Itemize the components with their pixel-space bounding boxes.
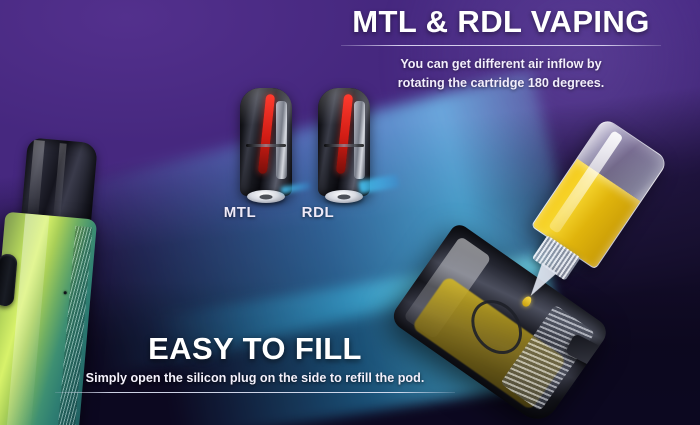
product-feature-banner: MTL & RDL VAPING You can get different a…: [0, 0, 700, 425]
pod-label-rdl: RDL: [302, 204, 335, 221]
header-subtitle-line-2: rotating the cartridge 180 degrees.: [336, 74, 666, 94]
pod-base-disc: [325, 190, 363, 203]
fill-section: EASY TO FILL Simply open the silicon plu…: [55, 332, 455, 393]
fill-underline: [55, 392, 455, 393]
header-block: MTL & RDL VAPING You can get different a…: [336, 6, 666, 94]
pod-coil: [336, 94, 353, 174]
fill-subtitle: Simply open the silicon plug on the side…: [55, 371, 455, 385]
title-underline: [341, 45, 661, 46]
header-subtitle: You can get different air inflow by rota…: [336, 55, 666, 94]
pod-cartridge-rdl: [318, 88, 370, 196]
pod-cartridge-mtl: [240, 88, 292, 196]
pod-base-disc: [247, 190, 285, 203]
eliquid-bottle: [531, 117, 669, 270]
pod-chrome-strip: [276, 101, 287, 179]
pod-seal-ring: [324, 144, 364, 147]
pod-seal-ring: [246, 144, 286, 147]
pod-chrome-strip: [354, 101, 365, 179]
device-highlight: [6, 213, 49, 425]
page-title: MTL & RDL VAPING: [336, 6, 666, 39]
pod-label-mtl: MTL: [224, 204, 257, 221]
header-subtitle-line-1: You can get different air inflow by: [336, 55, 666, 75]
pod-shell: [240, 88, 292, 196]
fill-title: EASY TO FILL: [55, 332, 455, 366]
pod-coil: [258, 94, 275, 174]
